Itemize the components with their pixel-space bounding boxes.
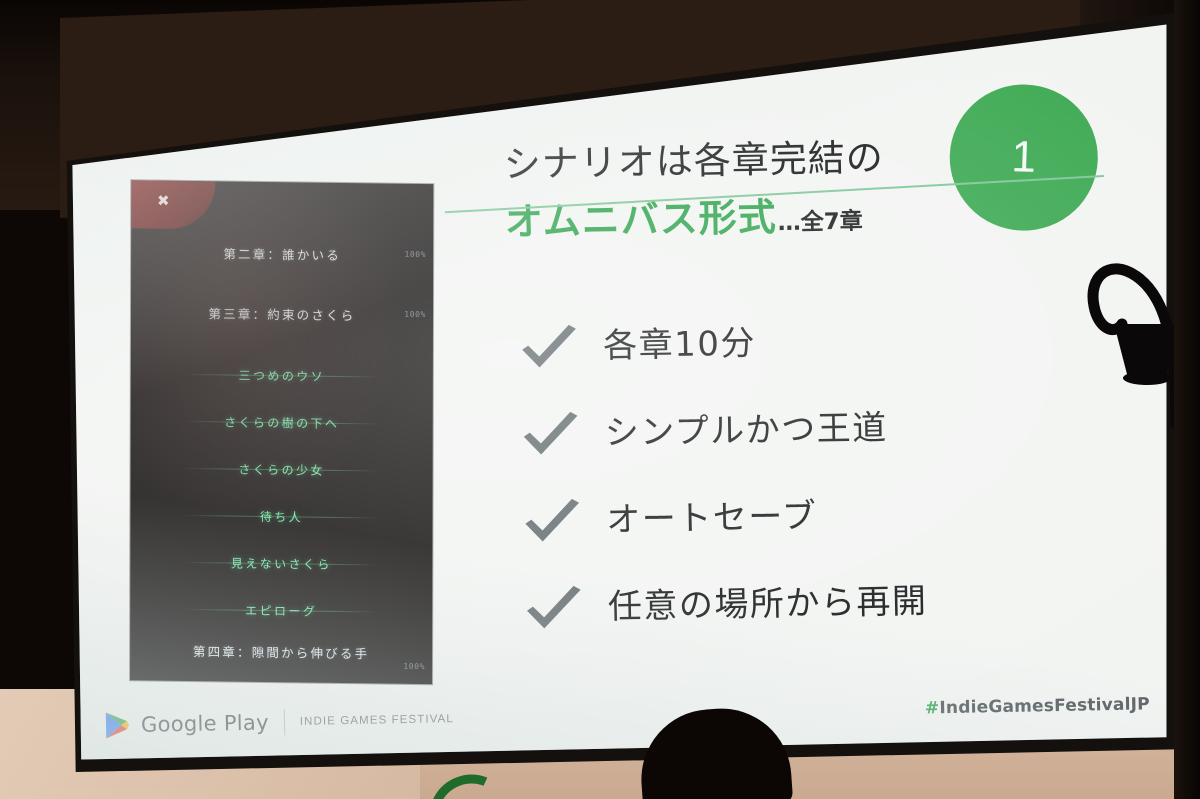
google-play-label: Google Play [141, 710, 269, 736]
projection-screen: 1 シナリオは各章完結の オムニバス形式 …全7章 各章10分 [68, 20, 1172, 764]
event-hashtag: #IndieGamesFestivalJP [925, 694, 1150, 718]
title-suffix: …全7章 [777, 202, 863, 238]
chapter-title: 第三章：約束のさくら [131, 302, 433, 325]
list-item-label: オートセーブ [606, 499, 818, 537]
right-post-silhouette [1174, 0, 1200, 799]
game-screenshot-phone: ✖ 第二章：誰かいる 100% 第三章：約束のさくら 100% 三つめのウソ さ… [130, 180, 433, 684]
presentation-slide: 1 シナリオは各章完結の オムニバス形式 …全7章 各章10分 [68, 20, 1172, 764]
scene-title[interactable]: 三つめのウソ [131, 365, 433, 386]
chapter-progress: 100% [403, 662, 425, 671]
chapter-progress: 100% [404, 310, 426, 319]
close-icon-glyph: ✖ [155, 193, 171, 209]
scene-title[interactable]: エピローグ [130, 600, 432, 621]
scene-title[interactable]: 見えないさくら [130, 553, 432, 574]
festival-label: INDIE GAMES FESTIVAL [300, 713, 454, 728]
scene-title[interactable]: さくらの樹の下へ [131, 412, 433, 433]
list-item: オートセーブ [522, 468, 1084, 565]
google-play-icon [104, 711, 131, 739]
scene-title[interactable]: 待ち人 [130, 506, 432, 527]
list-item-label: 各章10分 [603, 326, 756, 363]
hash-symbol: # [925, 698, 940, 718]
list-item: 任意の場所から再開 [523, 555, 1085, 652]
chapter-title: 第二章：誰かいる [131, 242, 433, 265]
list-item-label: シンプルかつ王道 [604, 411, 888, 450]
footer-divider [284, 709, 285, 735]
check-icon [522, 497, 585, 544]
footer-branding: Google Play INDIE GAMES FESTIVAL [104, 705, 454, 739]
list-item: 各章10分 [518, 294, 1080, 391]
close-icon[interactable]: ✖ [131, 180, 215, 229]
scene-title[interactable]: さくらの少女 [131, 459, 433, 480]
slide-title-block: シナリオは各章完結の オムニバス形式 …全7章 [503, 135, 1025, 247]
list-item: シンプルかつ王道 [520, 381, 1082, 478]
check-icon [519, 323, 582, 370]
hashtag-label: IndieGamesFestivalJP [939, 694, 1150, 718]
check-icon [520, 410, 583, 457]
chapter-title: 第四章：隙間から伸びる手 [130, 640, 432, 663]
check-icon [524, 584, 587, 631]
feature-bullet-list: 各章10分 シンプルかつ王道 オートセーブ [518, 294, 1084, 652]
chapter-progress: 100% [404, 250, 426, 259]
title-line-2: オムニバス形式 …全7章 [504, 182, 1025, 247]
title-line-1: シナリオは各章完結の [503, 135, 1024, 186]
list-item-label: 任意の場所から再開 [608, 584, 928, 624]
projection-screen-assembly: 1 シナリオは各章完結の オムニバス形式 …全7章 各章10分 [60, 12, 1180, 772]
